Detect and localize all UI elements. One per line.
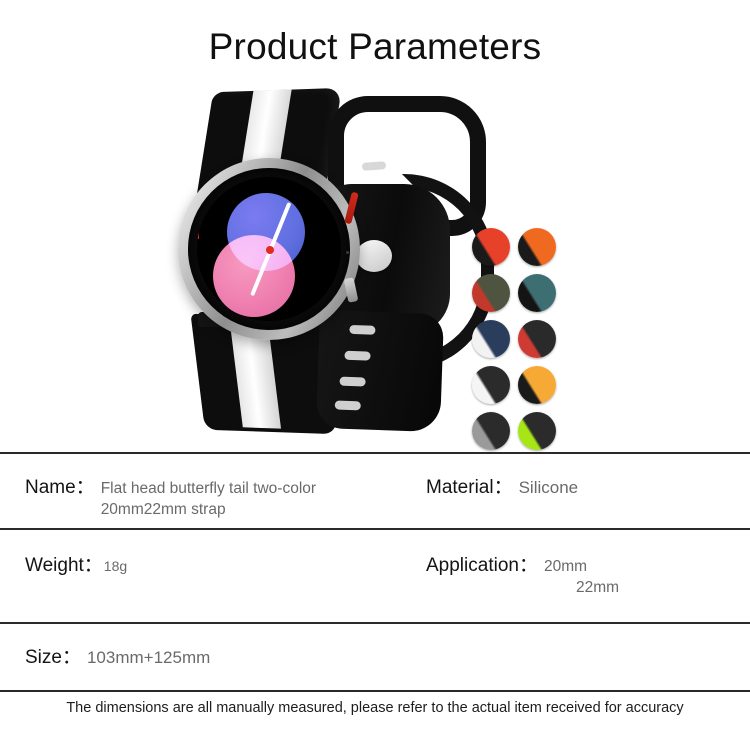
value-name-line1: Flat head butterfly tail two-color [101, 478, 316, 499]
swatch-white-black[interactable] [472, 366, 510, 404]
strap-hole [349, 325, 375, 335]
label-application: Application： [426, 550, 538, 577]
watch-bezel [188, 168, 350, 330]
value-material: Silicone [519, 477, 579, 498]
swatch-white-navy-blue[interactable] [472, 320, 510, 358]
table-row-size: Size： 103mm+125mm [0, 624, 750, 690]
value-application-line1: 20mm [544, 556, 619, 577]
swatch-row [472, 412, 582, 450]
page-title: Product Parameters [0, 26, 750, 68]
value-application: 20mm 22mm [544, 556, 619, 598]
second-hand [197, 177, 199, 239]
measurement-disclaimer: The dimensions are all manually measured… [0, 700, 750, 716]
swatch-black-teal[interactable] [518, 274, 556, 312]
watch-screen [197, 177, 341, 321]
label-material: Material： [426, 472, 513, 499]
table-divider [0, 690, 750, 692]
clasp-release-button [356, 240, 392, 272]
label-name: Name： [25, 472, 95, 499]
strap-hole [344, 351, 370, 361]
cell-material: Material： Silicone [418, 472, 750, 499]
swatch-black-red[interactable] [472, 228, 510, 266]
cell-size: Size： 103mm+125mm [0, 642, 418, 669]
swatch-row [472, 320, 582, 358]
specifications-table: Name： Flat head butterfly tail two-color… [0, 452, 750, 692]
strap-hole [339, 377, 365, 387]
value-weight: 18g [104, 556, 127, 577]
watch-illustration [150, 88, 470, 433]
value-application-line2: 22mm [544, 577, 619, 598]
label-weight: Weight： [25, 550, 103, 577]
watch-case [178, 158, 360, 340]
swatch-row [472, 228, 582, 266]
swatch-red-army-green[interactable] [472, 274, 510, 312]
cell-weight: Weight： 18g [0, 550, 418, 577]
cell-application: Application： 20mm 22mm [418, 550, 750, 598]
microphone-dot [346, 251, 349, 254]
strap-tail [316, 310, 444, 432]
swatch-red-black[interactable] [518, 320, 556, 358]
swatch-lime-black[interactable] [518, 412, 556, 450]
product-image [0, 88, 750, 433]
table-row-weight: Weight： 18g Application： 20mm 22mm [0, 530, 750, 622]
cell-name: Name： Flat head butterfly tail two-color… [0, 472, 418, 520]
watchface-center-pin [266, 246, 274, 254]
swatch-row [472, 274, 582, 312]
swatch-grey-black[interactable] [472, 412, 510, 450]
value-size: 103mm+125mm [87, 647, 210, 668]
swatch-black-orange[interactable] [518, 228, 556, 266]
label-size: Size： [25, 642, 81, 669]
clasp-slot [362, 161, 386, 171]
swatch-row [472, 366, 582, 404]
value-name: Flat head butterfly tail two-color 20mm2… [101, 478, 316, 520]
color-swatch-grid [472, 228, 582, 464]
swatch-black-amber[interactable] [518, 366, 556, 404]
watchface-pink-circle [213, 235, 295, 317]
strap-hole [335, 400, 361, 410]
value-name-line2: 20mm22mm strap [101, 499, 316, 520]
table-row-name: Name： Flat head butterfly tail two-color… [0, 454, 750, 528]
